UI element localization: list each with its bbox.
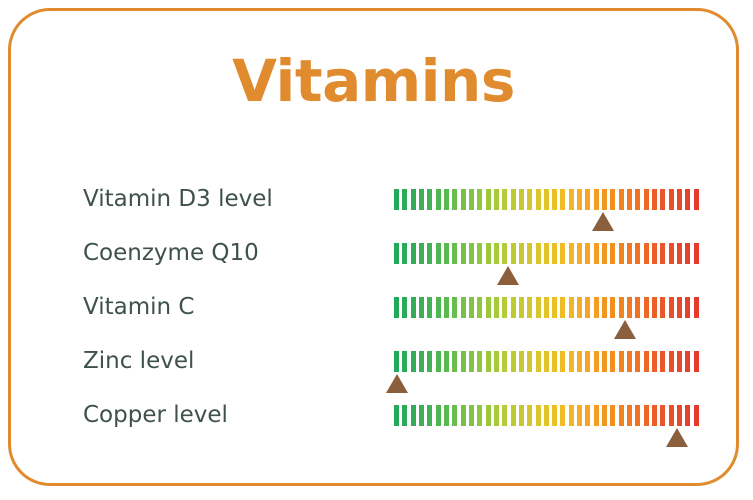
gauge-tick bbox=[677, 189, 682, 210]
gauge-row-label: Copper level bbox=[83, 402, 373, 428]
gauge-row: Coenzyme Q10 bbox=[11, 240, 736, 294]
gauge-tick bbox=[627, 243, 632, 264]
gauge-tick bbox=[544, 405, 549, 426]
gauge-tick bbox=[402, 189, 407, 210]
gauge-tick bbox=[411, 405, 416, 426]
gauge-tick bbox=[577, 243, 582, 264]
gauge-scale bbox=[394, 189, 702, 210]
gauge-row-label: Coenzyme Q10 bbox=[83, 240, 373, 266]
gauge-tick bbox=[660, 189, 665, 210]
gauge-tick bbox=[469, 405, 474, 426]
gauge-tick bbox=[452, 189, 457, 210]
gauge-marker-triangle bbox=[614, 320, 636, 339]
gauge-tick bbox=[602, 243, 607, 264]
gauge-row-label: Vitamin D3 level bbox=[83, 186, 373, 212]
gauge-tick bbox=[444, 243, 449, 264]
gauge-tick bbox=[411, 189, 416, 210]
gauge-tick bbox=[536, 351, 541, 372]
gauge-tick bbox=[527, 405, 532, 426]
gauge-tick bbox=[569, 405, 574, 426]
gauge-tick bbox=[635, 243, 640, 264]
gauge-tick bbox=[610, 189, 615, 210]
gauge-row: Zinc level bbox=[11, 348, 736, 402]
gauge-tick bbox=[669, 189, 674, 210]
gauge-tick bbox=[694, 405, 699, 426]
gauge-tick bbox=[511, 405, 516, 426]
gauge-tick bbox=[469, 351, 474, 372]
gauge-tick bbox=[610, 405, 615, 426]
gauge-tick bbox=[477, 297, 482, 318]
gauge-row: Vitamin D3 level bbox=[11, 186, 736, 240]
gauge-tick bbox=[552, 297, 557, 318]
gauge-tick bbox=[494, 297, 499, 318]
gauge-tick bbox=[669, 351, 674, 372]
gauge-tick bbox=[536, 297, 541, 318]
gauge-tick bbox=[594, 405, 599, 426]
gauge-tick bbox=[519, 243, 524, 264]
gauge-tick bbox=[577, 405, 582, 426]
gauge-tick bbox=[444, 405, 449, 426]
gauge-tick bbox=[427, 405, 432, 426]
gauge-tick bbox=[652, 243, 657, 264]
gauge-tick bbox=[419, 243, 424, 264]
gauge-tick bbox=[494, 243, 499, 264]
gauge-tick bbox=[527, 351, 532, 372]
gauge-tick bbox=[427, 297, 432, 318]
gauge-tick bbox=[577, 189, 582, 210]
gauge-tick bbox=[411, 297, 416, 318]
gauge-tick bbox=[469, 297, 474, 318]
gauge-tick bbox=[619, 297, 624, 318]
gauge-tick bbox=[552, 189, 557, 210]
gauge-tick bbox=[552, 351, 557, 372]
gauge-scale bbox=[394, 243, 702, 264]
gauge-tick bbox=[644, 297, 649, 318]
gauge-tick bbox=[669, 243, 674, 264]
gauge-tick bbox=[594, 297, 599, 318]
gauge-tick bbox=[644, 243, 649, 264]
gauge-row-label: Zinc level bbox=[83, 348, 373, 374]
gauge-tick bbox=[469, 243, 474, 264]
gauge-tick bbox=[477, 351, 482, 372]
gauge-tick bbox=[544, 351, 549, 372]
gauge-tick bbox=[452, 297, 457, 318]
gauge-tick bbox=[402, 351, 407, 372]
gauge-tick bbox=[511, 351, 516, 372]
gauge-tick bbox=[477, 243, 482, 264]
gauge-scale bbox=[394, 405, 702, 426]
gauge-tick bbox=[394, 297, 399, 318]
gauge-tick bbox=[560, 351, 565, 372]
gauge-tick bbox=[635, 189, 640, 210]
gauge-tick bbox=[560, 189, 565, 210]
gauge-tick bbox=[477, 405, 482, 426]
gauge-tick bbox=[669, 297, 674, 318]
gauge-tick bbox=[394, 351, 399, 372]
gauge-tick bbox=[660, 243, 665, 264]
gauge-tick bbox=[660, 351, 665, 372]
gauge-tick bbox=[427, 189, 432, 210]
gauge-tick bbox=[552, 243, 557, 264]
gauge-tick bbox=[685, 243, 690, 264]
gauge-tick bbox=[619, 243, 624, 264]
gauge-tick bbox=[552, 405, 557, 426]
gauge-tick bbox=[411, 351, 416, 372]
gauge-tick bbox=[419, 189, 424, 210]
gauge-tick bbox=[602, 351, 607, 372]
gauge-tick bbox=[544, 243, 549, 264]
gauge-tick bbox=[477, 189, 482, 210]
gauge-tick bbox=[660, 405, 665, 426]
gauge-tick bbox=[527, 189, 532, 210]
gauge-tick bbox=[494, 351, 499, 372]
gauge-row-label: Vitamin C bbox=[83, 294, 373, 320]
gauge-tick bbox=[627, 189, 632, 210]
gauge-tick bbox=[461, 297, 466, 318]
gauge-tick bbox=[644, 405, 649, 426]
gauge-tick bbox=[427, 243, 432, 264]
gauge-tick bbox=[402, 405, 407, 426]
gauge-tick bbox=[419, 405, 424, 426]
gauge-tick bbox=[411, 243, 416, 264]
gauge-tick bbox=[519, 297, 524, 318]
gauge-tick bbox=[427, 351, 432, 372]
gauge-tick bbox=[610, 297, 615, 318]
gauge-tick bbox=[585, 351, 590, 372]
gauge-tick bbox=[502, 297, 507, 318]
gauge-tick bbox=[486, 405, 491, 426]
gauge-tick bbox=[610, 243, 615, 264]
gauge-tick bbox=[627, 297, 632, 318]
gauge-tick bbox=[436, 351, 441, 372]
gauge-tick bbox=[527, 243, 532, 264]
gauge-tick bbox=[652, 297, 657, 318]
gauge-tick bbox=[536, 243, 541, 264]
gauge-tick bbox=[461, 351, 466, 372]
gauge-tick bbox=[486, 189, 491, 210]
gauge-row: Copper level bbox=[11, 402, 736, 456]
gauge-tick bbox=[585, 189, 590, 210]
gauge-tick bbox=[394, 405, 399, 426]
gauge-scale bbox=[394, 351, 702, 372]
gauge-tick bbox=[635, 351, 640, 372]
gauge-tick bbox=[685, 351, 690, 372]
gauge-tick bbox=[419, 297, 424, 318]
gauge-tick bbox=[577, 351, 582, 372]
gauge-tick bbox=[452, 351, 457, 372]
gauge-tick bbox=[394, 243, 399, 264]
gauge-marker-triangle bbox=[497, 266, 519, 285]
gauge-tick bbox=[494, 405, 499, 426]
gauge-tick bbox=[627, 351, 632, 372]
gauge-tick bbox=[560, 405, 565, 426]
gauge-tick bbox=[694, 243, 699, 264]
gauge-tick bbox=[677, 243, 682, 264]
gauge-tick bbox=[461, 243, 466, 264]
gauge-tick bbox=[469, 189, 474, 210]
gauge-tick bbox=[594, 243, 599, 264]
gauge-tick bbox=[436, 297, 441, 318]
gauge-tick bbox=[560, 297, 565, 318]
gauge-tick bbox=[635, 405, 640, 426]
gauge-tick bbox=[602, 405, 607, 426]
gauge-tick bbox=[660, 297, 665, 318]
gauge-tick bbox=[544, 189, 549, 210]
gauge-tick bbox=[511, 297, 516, 318]
gauge-tick bbox=[486, 243, 491, 264]
gauge-tick bbox=[619, 351, 624, 372]
gauge-tick bbox=[602, 297, 607, 318]
gauge-tick bbox=[619, 189, 624, 210]
gauge-tick bbox=[685, 405, 690, 426]
gauge-tick bbox=[461, 189, 466, 210]
gauge-tick bbox=[652, 405, 657, 426]
gauge-tick bbox=[627, 405, 632, 426]
gauge-tick bbox=[486, 297, 491, 318]
gauge-tick bbox=[536, 405, 541, 426]
gauge-tick bbox=[486, 351, 491, 372]
gauge-tick bbox=[527, 297, 532, 318]
gauge-tick bbox=[569, 351, 574, 372]
gauge-tick bbox=[452, 405, 457, 426]
gauge-tick bbox=[394, 189, 399, 210]
gauge-tick bbox=[519, 189, 524, 210]
gauge-tick bbox=[444, 189, 449, 210]
gauge-tick bbox=[635, 297, 640, 318]
gauge-tick bbox=[669, 405, 674, 426]
gauge-row: Vitamin C bbox=[11, 294, 736, 348]
gauge-tick bbox=[494, 189, 499, 210]
gauge-tick bbox=[644, 189, 649, 210]
gauge-tick bbox=[519, 405, 524, 426]
gauge-tick bbox=[419, 351, 424, 372]
gauge-scale bbox=[394, 297, 702, 318]
gauge-tick bbox=[402, 243, 407, 264]
gauge-tick bbox=[519, 351, 524, 372]
gauge-tick bbox=[402, 297, 407, 318]
gauge-marker-triangle bbox=[386, 374, 408, 393]
gauge-tick bbox=[511, 243, 516, 264]
gauge-tick bbox=[502, 351, 507, 372]
gauge-tick bbox=[436, 243, 441, 264]
gauge-tick bbox=[652, 189, 657, 210]
gauge-tick bbox=[569, 297, 574, 318]
gauge-marker-triangle bbox=[592, 212, 614, 231]
gauge-tick bbox=[677, 405, 682, 426]
vitamins-card: Vitamins Vitamin D3 levelCoenzyme Q10Vit… bbox=[8, 8, 739, 486]
gauge-tick bbox=[511, 189, 516, 210]
gauge-tick bbox=[461, 405, 466, 426]
gauge-tick bbox=[444, 297, 449, 318]
gauge-tick bbox=[436, 405, 441, 426]
gauge-tick bbox=[444, 351, 449, 372]
gauge-tick bbox=[544, 297, 549, 318]
gauge-tick bbox=[436, 189, 441, 210]
gauge-tick bbox=[502, 243, 507, 264]
gauge-tick bbox=[502, 189, 507, 210]
gauge-tick bbox=[694, 297, 699, 318]
gauge-tick bbox=[644, 351, 649, 372]
gauge-tick bbox=[602, 189, 607, 210]
gauge-tick bbox=[569, 243, 574, 264]
gauge-tick bbox=[677, 297, 682, 318]
gauge-tick bbox=[610, 351, 615, 372]
gauge-tick bbox=[677, 351, 682, 372]
gauge-tick bbox=[685, 189, 690, 210]
gauge-tick bbox=[585, 243, 590, 264]
gauge-tick bbox=[694, 189, 699, 210]
gauge-tick bbox=[585, 297, 590, 318]
gauge-rows-container: Vitamin D3 levelCoenzyme Q10Vitamin CZin… bbox=[11, 11, 736, 483]
gauge-tick bbox=[560, 243, 565, 264]
gauge-tick bbox=[619, 405, 624, 426]
gauge-tick bbox=[694, 351, 699, 372]
gauge-tick bbox=[502, 405, 507, 426]
gauge-tick bbox=[585, 405, 590, 426]
gauge-tick bbox=[685, 297, 690, 318]
gauge-tick bbox=[577, 297, 582, 318]
gauge-tick bbox=[594, 351, 599, 372]
gauge-tick bbox=[569, 189, 574, 210]
gauge-marker-triangle bbox=[666, 428, 688, 447]
gauge-tick bbox=[594, 189, 599, 210]
gauge-tick bbox=[652, 351, 657, 372]
gauge-tick bbox=[452, 243, 457, 264]
gauge-tick bbox=[536, 189, 541, 210]
